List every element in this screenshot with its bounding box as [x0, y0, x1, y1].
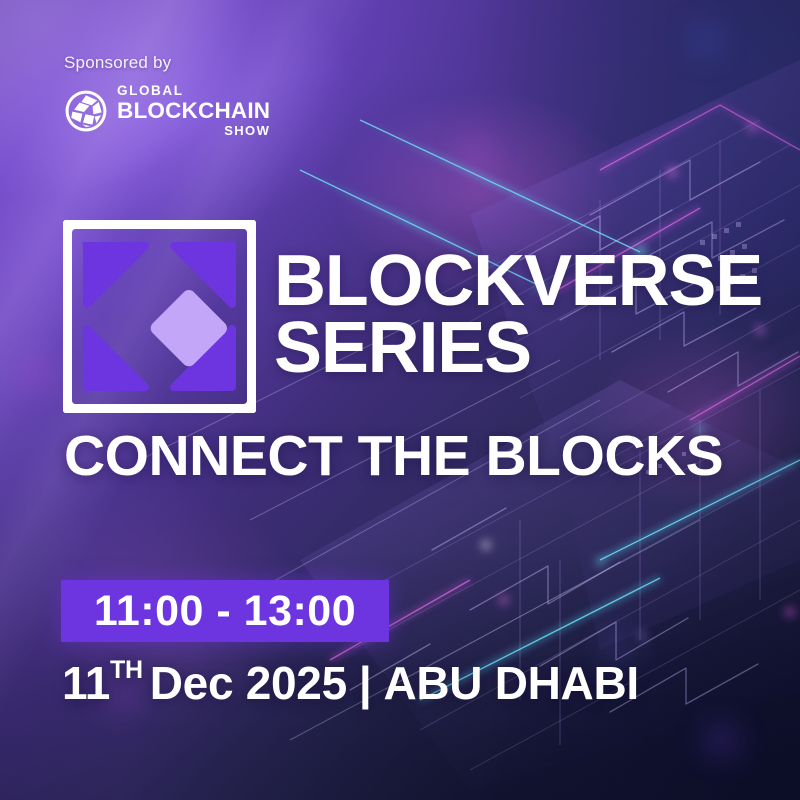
blockverse-square-diamond-logo	[63, 220, 256, 413]
brand-title-line-2: SERIES	[274, 315, 762, 381]
tagline: CONNECT THE BLOCKS	[64, 428, 723, 485]
event-month-year: Dec 2025	[150, 660, 347, 706]
time-badge-label: 11:00 - 13:00	[94, 590, 356, 633]
brand-title: BLOCKVERSE SERIES	[274, 248, 762, 384]
brand-title-line-1: BLOCKVERSE	[274, 248, 762, 314]
sponsor-name-blockchain: BLOCKCHAIN	[117, 100, 270, 123]
sponsor-logo: GLOBAL BLOCKCHAIN SHOW	[64, 84, 270, 137]
event-location: ABU DHABI	[383, 660, 638, 706]
faceted-gem-polygon-icon	[64, 89, 108, 133]
time-badge: 11:00 - 13:00	[61, 580, 389, 642]
event-day: 11	[62, 660, 110, 706]
sponsor-name-global: GLOBAL	[117, 84, 270, 98]
date-location-separator: |	[359, 660, 372, 706]
sponsored-by-label: Sponsored by	[64, 54, 270, 71]
event-day-suffix: TH	[110, 658, 143, 683]
brand-lockup: BLOCKVERSE SERIES	[63, 220, 762, 413]
sponsor-wordmark: GLOBAL BLOCKCHAIN SHOW	[117, 84, 270, 137]
banner-content: Sponsored by	[0, 0, 800, 800]
sponsor-name-show: SHOW	[117, 124, 270, 137]
date-location-line: 11 TH Dec 2025 | ABU DHABI	[62, 660, 639, 706]
event-banner: Sponsored by	[0, 0, 800, 800]
sponsor-block: Sponsored by	[64, 54, 270, 137]
